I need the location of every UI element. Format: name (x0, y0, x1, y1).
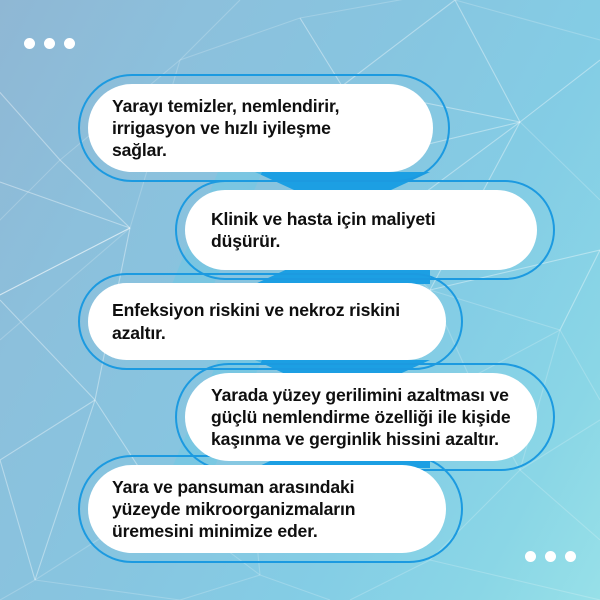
benefit-pill-5: Yara ve pansuman arasındaki yüzeyde mikr… (88, 465, 446, 553)
dot-icon (565, 551, 576, 562)
top-left-dots (24, 38, 75, 49)
bottom-right-dots (525, 551, 576, 562)
benefit-text-2: Klinik ve hasta için maliyeti düşürür. (211, 208, 435, 252)
benefit-pill-4: Yarada yüzey gerilimini azaltması ve güç… (185, 373, 537, 461)
benefit-text-1: Yarayı temizler, nemlendirir, irrigasyon… (112, 95, 339, 161)
dot-icon (24, 38, 35, 49)
benefit-text-5: Yara ve pansuman arasındaki yüzeyde mikr… (112, 476, 355, 542)
benefit-pill-1: Yarayı temizler, nemlendirir, irrigasyon… (88, 84, 433, 172)
benefit-text-3: Enfeksiyon riskini ve nekroz riskini aza… (112, 299, 400, 343)
benefit-text-4: Yarada yüzey gerilimini azaltması ve güç… (211, 384, 511, 450)
benefit-pill-3: Enfeksiyon riskini ve nekroz riskini aza… (88, 283, 446, 360)
dot-icon (64, 38, 75, 49)
dot-icon (545, 551, 556, 562)
benefit-pill-2: Klinik ve hasta için maliyeti düşürür. (185, 190, 537, 270)
dot-icon (525, 551, 536, 562)
dot-icon (44, 38, 55, 49)
poster-canvas: Yarayı temizler, nemlendirir, irrigasyon… (0, 0, 600, 600)
